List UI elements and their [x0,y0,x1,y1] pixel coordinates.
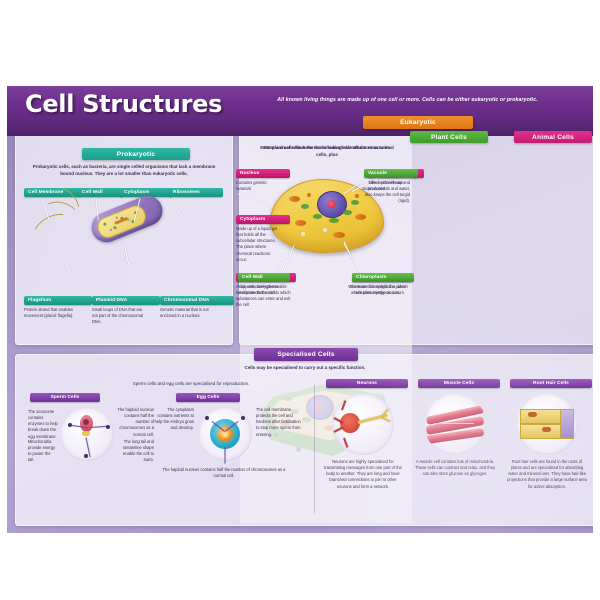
panel-specialised-cells: Cells may be specialised to carry out a … [15,354,593,526]
divider [314,385,315,513]
label-vacuole: Vacuole [364,169,418,178]
label-plasmid-dna: Plasmid DNA [92,296,160,305]
plant-intro: Most plant cells have the same subcellul… [254,145,400,159]
page-title: Cell Structures [25,90,222,118]
label-flagellum: Flagellum [24,296,92,305]
leader-line [166,236,183,264]
bacterium-cytoplasm [95,203,149,241]
label-nucleus-text: Contains genetic material. [236,180,278,192]
banner-animal-cells: Animal Cells [514,131,592,143]
neuron-illustration [332,393,394,455]
poster-root: Cell Structures All known living things … [0,0,600,600]
label-chromosomal-dna: Chromosomal DNA [160,296,234,305]
banner-eukaryotic: Eukaryotic [363,116,473,129]
label-plasmid-dna-text: Small loops of DNA that are not part of … [92,307,148,325]
leader-line [238,193,270,206]
label-cell-wall-text: Supports, strengthens and protects the c… [238,284,286,296]
sperm-note-acrosome: The acrosome contains enzymes to help br… [28,409,58,440]
sperm-note-nucleus: The haploid nucleus contains half the nu… [116,407,154,438]
panel-eukaryotic: Eukaryotic cells are found in animals an… [239,118,593,345]
label-vacuole-text: Filled with cell sap and stores nutrient… [358,180,410,205]
bacterium-body [87,191,167,247]
muscle-text: A muscle cell contains lots of mitochond… [414,459,496,477]
poster-sheet: Cell Structures All known living things … [7,86,593,533]
panel-prokaryotic: Prokaryotic Prokaryotic cells, such as b… [15,131,233,345]
sperm-cell-illustration [60,407,114,461]
banner-prokaryotic: Prokaryotic [82,148,190,160]
header-notch [7,122,593,136]
label-cell-wall: Cell Wall [238,273,290,282]
egg-cell-illustration [198,407,252,461]
label-root-hair-cells: Root Hair Cells [510,379,592,388]
root-hair-illustration [516,393,578,455]
egg-note-cytoplasm: The cytoplasm contains nutrients to help… [152,407,194,432]
sperm-note-tail: The long tail and streamline shape enabl… [116,439,154,464]
egg-note-nucleus: The haploid nucleus contains half the nu… [162,467,286,479]
label-sperm-cells: Sperm Cells [30,393,100,402]
plant-nucleus [306,395,334,420]
banner-specialised-cells: Specialised Cells [254,348,358,361]
leader-line [124,242,132,275]
label-flagellum-text: Protein strand that enables movement (pl… [24,307,80,319]
root-hair-text: Root hair cells are found in the roots o… [506,459,588,490]
label-cytoplasm-text: Made up of a liquid gel that holds all t… [236,226,280,263]
banner-plant-cells: Plant Cells [410,131,488,143]
muscle-illustration [424,393,486,455]
label-chromosomal-dna-text: Genetic material that is not enclosed in… [160,307,222,319]
reproduction-intro: Sperm cells and egg cells are specialise… [76,381,306,388]
label-chloroplasts: Chloroplasts [352,273,414,282]
chip-cell-wall: Cell Wall [78,188,123,197]
egg-note-membrane: The cell membrane protects the cell and … [256,407,304,438]
plant-nucleolus [315,403,323,410]
label-muscle-cells: Muscle Cells [418,379,500,388]
leader-line [171,198,189,223]
poster-subtitle: All known living things are made up of o… [235,97,580,103]
specialised-intro: Cells may be specialised to carry out a … [176,365,434,372]
chip-ribosomes: Ribosomes [169,188,223,197]
leader-line [62,256,75,282]
prokaryotic-intro: Prokaryotic cells, such as bacteria, are… [26,164,222,178]
label-cytoplasm: Cytoplasm [236,215,290,224]
animal-nucleolus [327,200,336,208]
neurons-text: Neurons are highly specialised for trans… [322,459,404,490]
sperm-note-mitochondria: Mitochondria provide energy to power the… [28,439,58,464]
label-neurons: Neurons [326,379,408,388]
label-egg-cells: Egg Cells [176,393,240,402]
poster-header: Cell Structures All known living things … [7,86,593,122]
label-nucleus: Nucleus [236,169,290,178]
label-chloroplasts-text: Contains chlorophyll, the place where ph… [346,284,410,296]
